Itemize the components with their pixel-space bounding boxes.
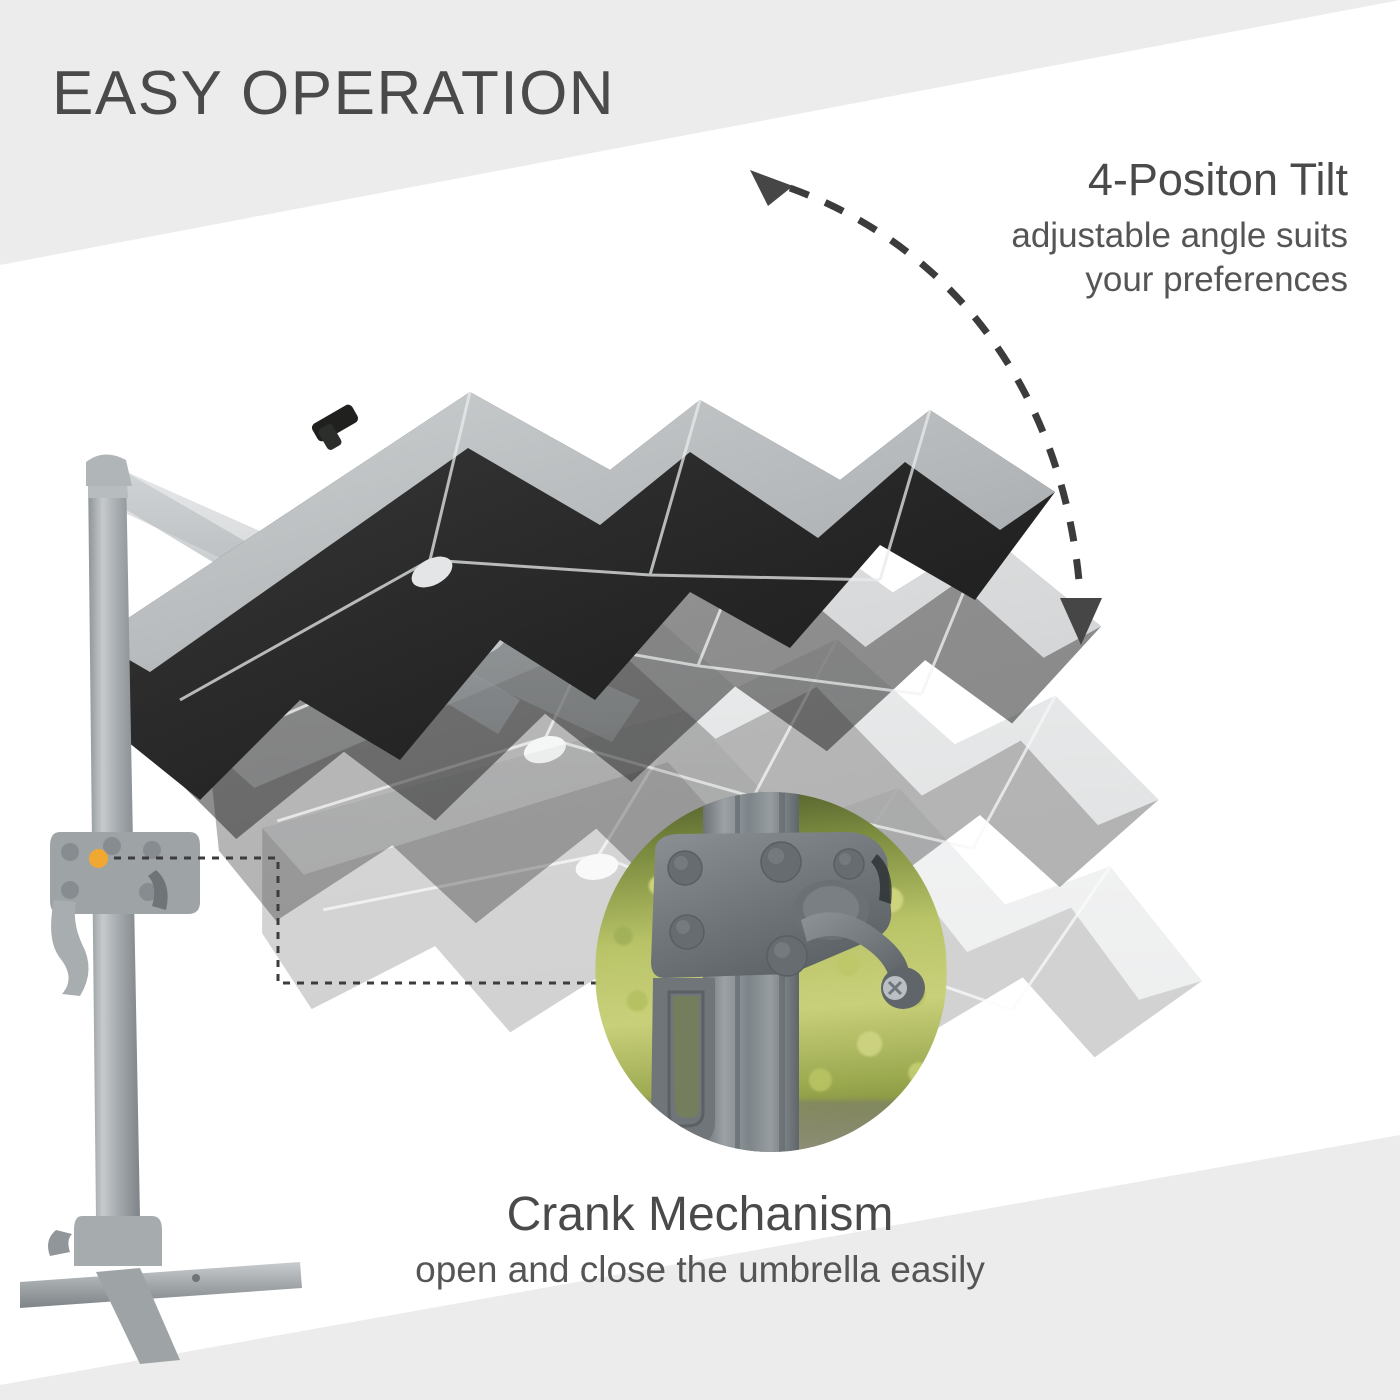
crank-mechanism-inset (595, 792, 947, 1152)
tilt-arrow-head-end (1060, 598, 1102, 645)
tilt-subtitle-line-1: adjustable angle suits (928, 214, 1348, 258)
umbrella-canopy-main (95, 392, 1055, 800)
crank-leader-line (100, 858, 600, 983)
solar-light-fixture (310, 403, 360, 452)
tilt-lock-housing (50, 832, 200, 996)
tilt-callout: 4-Positon Tilt adjustable angle suits yo… (928, 152, 1348, 302)
tilt-arrow-head-start (750, 170, 793, 206)
crank-mechanism-drawing (595, 792, 947, 1152)
tilt-callout-subtitle: adjustable angle suits your preferences (928, 214, 1348, 302)
infographic-canvas: EASY OPERATION (0, 0, 1400, 1400)
tilt-subtitle-line-2: your preferences (928, 258, 1348, 302)
page-title: EASY OPERATION (52, 58, 615, 129)
cross-arm (108, 468, 640, 742)
crank-callout-title: Crank Mechanism (0, 1186, 1400, 1244)
crank-callout: Crank Mechanism open and close the umbre… (0, 1186, 1400, 1294)
pole-top-knuckle (86, 454, 132, 486)
tilt-callout-title: 4-Positon Tilt (928, 152, 1348, 208)
crank-callout-subtitle: open and close the umbrella easily (0, 1246, 1400, 1294)
cross-arm-secondary (110, 470, 520, 734)
crank-location-marker (89, 849, 108, 868)
vertical-pole (88, 470, 140, 1218)
